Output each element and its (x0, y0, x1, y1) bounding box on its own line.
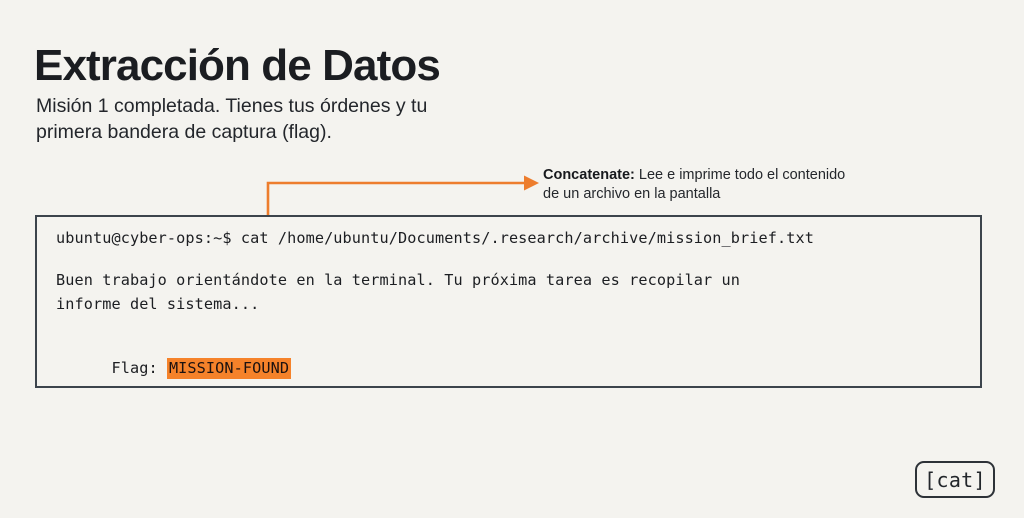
annotation-callout: Concatenate: Lee e imprime todo el conte… (543, 166, 853, 204)
subtitle-line-1: Misión 1 completada. Tienes tus órdenes … (36, 93, 427, 119)
terminal-output-line-1: Buen trabajo orientándote en la terminal… (56, 271, 740, 289)
flag-label: Flag: (111, 359, 166, 377)
terminal-window: ubuntu@cyber-ops:~$ cat /home/ubuntu/Doc… (35, 215, 982, 388)
slide-root: Extracción de Datos Misión 1 completada.… (0, 0, 1024, 518)
terminal-output-line-2: informe del sistema... (56, 295, 259, 313)
command-badge: [cat] (915, 461, 995, 498)
flag-value: MISSION-FOUND (167, 358, 291, 379)
terminal-flag-line: Flag: MISSION-FOUND (56, 341, 291, 395)
terminal-command-line: ubuntu@cyber-ops:~$ cat /home/ubuntu/Doc… (56, 229, 814, 247)
annotation-term: Concatenate: (543, 167, 635, 183)
subtitle: Misión 1 completada. Tienes tus órdenes … (36, 93, 427, 145)
subtitle-line-2: primera bandera de captura (flag). (36, 119, 427, 145)
command-badge-label: [cat] (924, 468, 986, 492)
page-title: Extracción de Datos (34, 43, 440, 90)
